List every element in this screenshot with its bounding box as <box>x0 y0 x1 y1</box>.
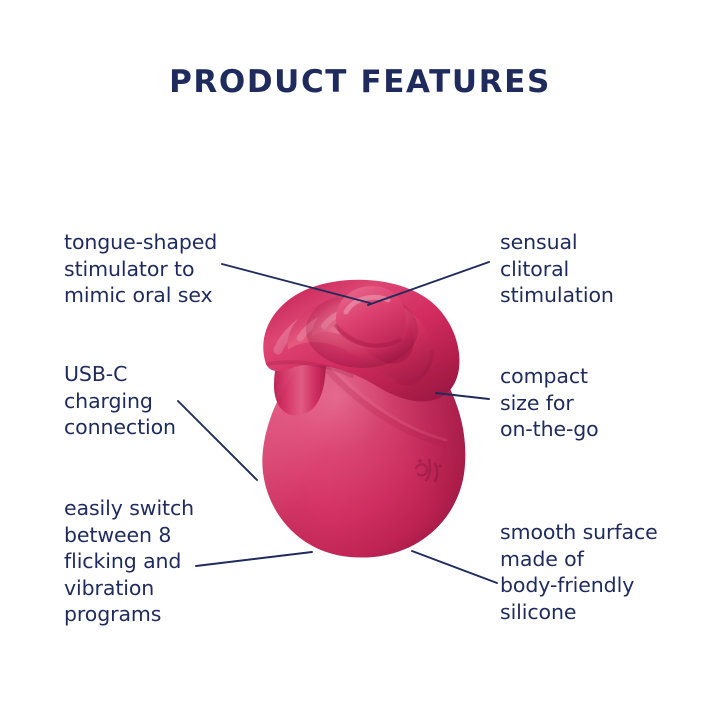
callout-label-sensual-clitoral-stimulation: sensual clitoral stimulation <box>500 229 690 309</box>
callout-label-flicking-vibration-programs: easily switch between 8 flicking and vib… <box>64 495 254 628</box>
product-image <box>230 268 500 580</box>
product-features-infographic: PRODUCT FEATURES <box>0 0 720 720</box>
callout-label-compact-size: compact size for on-the-go <box>500 363 690 443</box>
callout-label-tongue-shaped-stimulator: tongue-shaped stimulator to mimic oral s… <box>64 229 264 309</box>
callout-label-smooth-silicone-surface: smooth surface made of body-friendly sil… <box>500 519 700 625</box>
page-title: PRODUCT FEATURES <box>0 64 720 100</box>
callout-label-usb-c-charging: USB-C charging connection <box>64 361 244 441</box>
product-illustration <box>230 268 500 580</box>
